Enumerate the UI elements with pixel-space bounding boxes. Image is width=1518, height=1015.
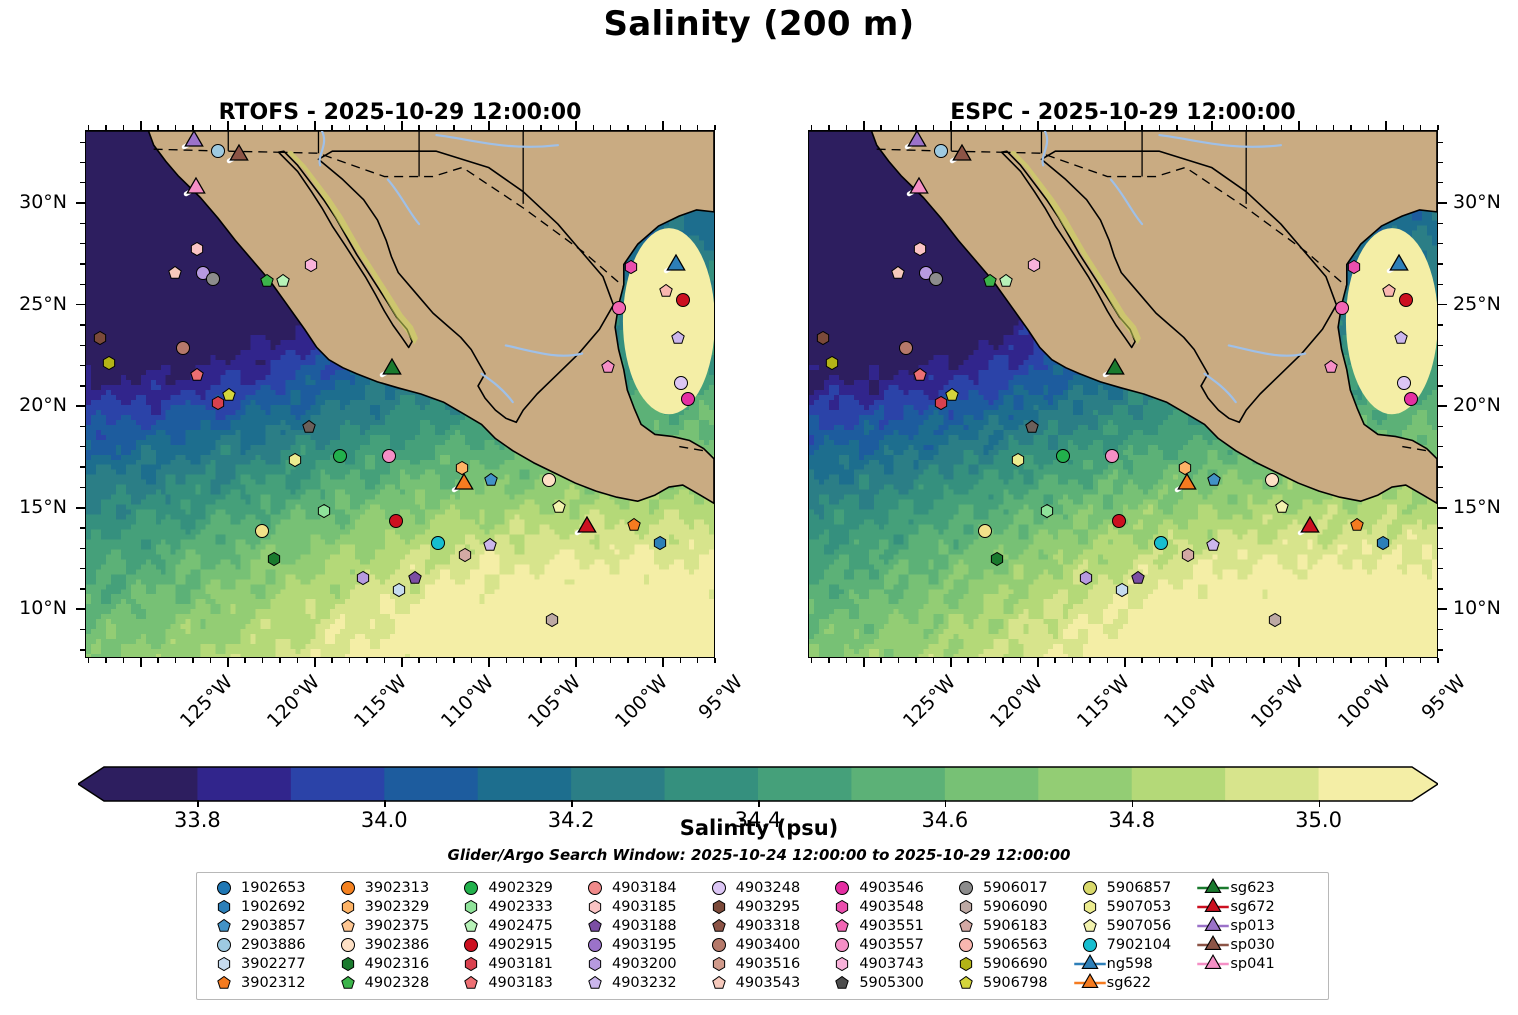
lat-tick-label: 30°N — [19, 191, 67, 213]
platform-marker-sp041 — [899, 168, 939, 208]
platform-marker-4903546 — [1394, 382, 1428, 416]
lon-minor-tick — [349, 125, 350, 130]
platform-marker-sp030 — [942, 135, 982, 175]
platform-marker-4903543 — [881, 256, 915, 290]
lon-minor-tick — [506, 125, 507, 130]
triangle-marker-icon — [1196, 954, 1230, 973]
colorbar-tick — [1319, 800, 1321, 807]
platform-marker-4902329 — [1046, 439, 1080, 473]
lon-minor-tick — [331, 658, 332, 663]
legend-item-sg622[interactable]: sg622 — [1073, 973, 1197, 992]
lon-tick-label: 120°W — [263, 671, 324, 732]
lon-minor-tick — [1403, 658, 1404, 663]
lon-minor-tick — [297, 658, 298, 663]
lon-minor-tick — [436, 125, 437, 130]
lon-minor-tick — [1281, 658, 1282, 663]
lon-minor-tick — [846, 658, 847, 663]
lon-minor-tick — [523, 125, 524, 130]
pentagon-marker-icon — [825, 973, 859, 992]
lon-minor-tick — [175, 125, 176, 130]
lon-tick — [662, 121, 664, 130]
lon-minor-tick — [471, 658, 472, 663]
lon-minor-tick — [349, 658, 350, 663]
lon-tick — [1385, 658, 1387, 667]
lat-minor-tick — [80, 365, 85, 366]
legend-item-label: 1902692 — [241, 899, 306, 915]
legend-grid: 1902653190269229038572903886390227739023… — [207, 878, 1320, 992]
legend-item-label: 4903181 — [488, 956, 553, 972]
lon-tick — [863, 658, 865, 667]
legend-item-label: 4903200 — [612, 956, 677, 972]
legend-item-label: 4902333 — [488, 899, 553, 915]
lon-minor-tick — [1141, 125, 1142, 130]
lat-tick — [1438, 405, 1447, 407]
lon-minor-tick — [1437, 125, 1438, 130]
lon-tick — [1124, 658, 1126, 667]
lat-minor-tick — [1438, 629, 1443, 630]
lat-minor-tick — [80, 162, 85, 163]
platform-marker-4902915 — [379, 504, 413, 538]
lon-minor-tick — [680, 658, 681, 663]
lon-tick-label: 95°W — [694, 671, 747, 724]
lon-minor-tick — [1089, 125, 1090, 130]
legend-item-label: 4903551 — [859, 918, 924, 934]
legend-item-4903543[interactable]: 4903543 — [702, 973, 826, 992]
lon-minor-tick — [697, 125, 698, 130]
platform-marker-4902915 — [666, 283, 700, 317]
platform-marker-sp041 — [176, 168, 216, 208]
lon-minor-tick — [1107, 658, 1108, 663]
lat-minor-tick — [1438, 243, 1443, 244]
colorbar: 33.834.034.234.434.634.835.0 — [78, 766, 1438, 800]
lon-minor-tick — [471, 125, 472, 130]
legend-item-label: 4903400 — [736, 937, 801, 953]
lon-minor-tick — [123, 125, 124, 130]
lon-minor-tick — [1316, 658, 1317, 663]
lon-tick-label: 110°W — [437, 671, 498, 732]
lon-tick — [1037, 658, 1039, 667]
lon-minor-tick — [157, 125, 158, 130]
lon-tick — [140, 121, 142, 130]
platform-marker-3902277 — [1105, 573, 1139, 607]
legend-item-label: 4903232 — [612, 975, 677, 991]
lat-tick-label: 15°N — [1453, 496, 1501, 518]
lon-minor-tick — [453, 658, 454, 663]
lat-tick-label: 20°N — [1453, 394, 1501, 416]
platform-marker-4902316 — [257, 543, 291, 577]
lat-minor-tick — [1438, 588, 1443, 589]
lon-minor-tick — [898, 658, 899, 663]
legend-item-label: 4903195 — [612, 937, 677, 953]
lon-tick — [662, 658, 664, 667]
platform-marker-4903232 — [1384, 321, 1418, 355]
lon-minor-tick — [244, 125, 245, 130]
platform-marker-4903551 — [602, 291, 636, 325]
legend-item-label: 1902653 — [241, 880, 306, 896]
platform-marker-5906798 — [935, 378, 969, 412]
lat-minor-tick — [80, 568, 85, 569]
lon-minor-tick — [985, 125, 986, 130]
legend-item-label: ng598 — [1107, 956, 1153, 972]
lon-minor-tick — [1194, 125, 1195, 130]
lon-minor-tick — [1054, 658, 1055, 663]
lat-minor-tick — [1438, 182, 1443, 183]
platform-marker-5906090 — [1259, 604, 1293, 638]
lat-minor-tick — [1438, 527, 1443, 528]
lat-tick — [1438, 507, 1447, 509]
lon-minor-tick — [1089, 658, 1090, 663]
lat-minor-tick — [1438, 568, 1443, 569]
platform-marker-4903232 — [661, 321, 695, 355]
lon-tick-label: 105°W — [1247, 671, 1308, 732]
lon-tick-label: 100°W — [1334, 671, 1395, 732]
lon-minor-tick — [967, 658, 968, 663]
platform-marker-sg672 — [1290, 507, 1330, 547]
lat-tick-label: 15°N — [19, 496, 67, 518]
lat-minor-tick — [80, 385, 85, 386]
lon-minor-tick — [105, 658, 106, 663]
lat-minor-tick — [1438, 284, 1443, 285]
platform-marker-4903548 — [614, 250, 648, 284]
lat-minor-tick — [1438, 365, 1443, 366]
legend-item-label: 2903886 — [241, 937, 306, 953]
lat-minor-tick — [1438, 426, 1443, 427]
lon-minor-tick — [192, 125, 193, 130]
lon-minor-tick — [540, 658, 541, 663]
lat-minor-tick — [80, 588, 85, 589]
lon-minor-tick — [540, 125, 541, 130]
legend-item-4903183[interactable]: 4903183 — [454, 973, 578, 992]
lon-minor-tick — [192, 658, 193, 663]
lon-tick — [227, 658, 229, 667]
platform-marker-4903200 — [1069, 561, 1103, 595]
lon-minor-tick — [1176, 658, 1177, 663]
lat-minor-tick — [1438, 263, 1443, 264]
legend-item-label: 4903743 — [859, 956, 924, 972]
lat-minor-tick — [80, 487, 85, 488]
lon-minor-tick — [1333, 658, 1334, 663]
lon-minor-tick — [1072, 125, 1073, 130]
platform-marker-4903551 — [1325, 291, 1359, 325]
legend-item-label: 4902316 — [365, 956, 430, 972]
legend-item-label: 4903248 — [736, 880, 801, 896]
lat-tick — [1438, 202, 1447, 204]
lon-minor-tick — [1141, 658, 1142, 663]
lon-minor-tick — [1316, 125, 1317, 130]
lon-minor-tick — [558, 658, 559, 663]
platform-marker-4903743 — [294, 248, 328, 282]
lat-minor-tick — [80, 629, 85, 630]
lon-tick — [575, 658, 577, 667]
map-panel-rtofs[interactable] — [85, 130, 715, 658]
legend-item-label: sp013 — [1230, 918, 1274, 934]
legend-item-5905300[interactable]: 5905300 — [825, 973, 949, 992]
lon-minor-tick — [1333, 125, 1334, 130]
lon-minor-tick — [418, 125, 419, 130]
lon-tick-label: 120°W — [986, 671, 1047, 732]
legend-item-label: 4902915 — [488, 937, 553, 953]
lat-tick — [76, 405, 85, 407]
colorbar-label: Salinity (psu) — [0, 816, 1518, 840]
legend-item-label: 4902328 — [365, 975, 430, 991]
legend-item-label: 7902104 — [1107, 937, 1172, 953]
colorbar-tick — [945, 800, 947, 807]
search-window-subtitle: Glider/Argo Search Window: 2025-10-24 12… — [0, 846, 1518, 864]
platform-marker-5906798 — [212, 378, 246, 412]
lat-tick-label: 10°N — [19, 597, 67, 619]
lat-tick-label: 10°N — [1453, 597, 1501, 619]
lon-minor-tick — [262, 658, 263, 663]
lat-minor-tick — [1438, 142, 1443, 143]
legend-item-label: 4903557 — [859, 937, 924, 953]
lon-minor-tick — [1054, 125, 1055, 130]
lat-minor-tick — [1438, 385, 1443, 386]
colorbar-tick — [758, 800, 760, 807]
platform-marker-5907053 — [1001, 443, 1035, 477]
lon-minor-tick — [1403, 125, 1404, 130]
lon-minor-tick — [645, 658, 646, 663]
legend-item-label: 4903183 — [488, 975, 553, 991]
lon-minor-tick — [1176, 125, 1177, 130]
lon-tick — [314, 121, 316, 130]
platform-marker-4903546 — [591, 350, 625, 384]
legend-item-label: 4903516 — [736, 956, 801, 972]
figure-root: Salinity (200 m) RTOFS - 2025-10-29 12:0… — [0, 0, 1518, 1015]
platform-marker-5906690 — [815, 346, 849, 380]
lat-minor-tick — [80, 466, 85, 467]
lon-minor-tick — [1020, 658, 1021, 663]
lon-minor-tick — [1263, 125, 1264, 130]
lat-minor-tick — [80, 548, 85, 549]
legend-item-4902328[interactable]: 4902328 — [331, 973, 455, 992]
legend-item-label: 5906690 — [983, 956, 1048, 972]
lon-minor-tick — [967, 125, 968, 130]
lon-minor-tick — [1350, 125, 1351, 130]
lat-minor-tick — [80, 345, 85, 346]
lon-minor-tick — [506, 658, 507, 663]
lon-minor-tick — [175, 658, 176, 663]
legend-item-label: 4903546 — [859, 880, 924, 896]
lon-minor-tick — [384, 125, 385, 130]
lon-minor-tick — [1246, 658, 1247, 663]
platform-marker-4903232 — [473, 528, 507, 562]
lon-minor-tick — [123, 658, 124, 663]
lon-minor-tick — [627, 658, 628, 663]
legend-item-label: 4903184 — [612, 880, 677, 896]
lon-minor-tick — [898, 125, 899, 130]
legend-item-label: 4903295 — [736, 899, 801, 915]
lat-minor-tick — [1438, 487, 1443, 488]
colorbar-tick — [1132, 800, 1134, 807]
platform-marker-4903743 — [1017, 248, 1051, 282]
lat-tick — [76, 304, 85, 306]
platform-marker-4903248 — [1015, 411, 1049, 445]
platform-marker-5907053 — [278, 443, 312, 477]
lon-minor-tick — [1350, 658, 1351, 663]
lat-minor-tick — [1438, 466, 1443, 467]
lon-minor-tick — [1072, 658, 1073, 663]
platform-marker-5906690 — [92, 346, 126, 380]
lon-minor-tick — [1420, 658, 1421, 663]
lon-minor-tick — [523, 658, 524, 663]
lon-minor-tick — [1229, 125, 1230, 130]
platform-marker-sg623 — [372, 349, 412, 389]
triangle-marker-icon — [1073, 973, 1107, 992]
colorbar-tick — [571, 800, 573, 807]
pentagon-marker-icon — [207, 973, 241, 992]
platform-marker-4903557 — [1095, 439, 1129, 473]
lat-minor-tick — [80, 243, 85, 244]
lon-minor-tick — [1002, 658, 1003, 663]
lon-tick — [227, 121, 229, 130]
lon-minor-tick — [593, 658, 594, 663]
platform-marker-5906017 — [919, 262, 953, 296]
platform-marker-4902333 — [1031, 494, 1065, 528]
legend-item-label: 4903188 — [612, 918, 677, 934]
platform-marker-4902316 — [980, 543, 1014, 577]
pentagon-marker-icon — [454, 973, 488, 992]
lon-tick — [1385, 121, 1387, 130]
lat-minor-tick — [80, 324, 85, 325]
legend-item-label: 5906017 — [983, 880, 1048, 896]
lon-tick-label: 100°W — [611, 671, 672, 732]
legend-item-label: 5905300 — [859, 975, 924, 991]
platform-marker-4902333 — [308, 494, 342, 528]
lon-minor-tick — [915, 658, 916, 663]
lon-minor-tick — [1368, 658, 1369, 663]
lon-tick — [140, 658, 142, 667]
lon-tick — [401, 658, 403, 667]
lon-minor-tick — [1159, 125, 1160, 130]
lon-minor-tick — [610, 125, 611, 130]
lon-minor-tick — [811, 125, 812, 130]
platform-marker-4902329 — [323, 439, 357, 473]
platform-marker-5906017 — [196, 262, 230, 296]
lon-minor-tick — [1246, 125, 1247, 130]
lon-minor-tick — [279, 125, 280, 130]
platform-marker-4903232 — [1196, 528, 1230, 562]
lon-minor-tick — [105, 125, 106, 130]
lon-tick — [488, 658, 490, 667]
platform-legend: 1902653190269229038572903886390227739023… — [196, 872, 1329, 1000]
legend-item-label: sg672 — [1230, 899, 1274, 915]
legend-item-label: 5907056 — [1107, 918, 1172, 934]
lat-tick-label: 30°N — [1453, 191, 1501, 213]
lon-minor-tick — [593, 125, 594, 130]
lon-tick-label: 110°W — [1160, 671, 1221, 732]
lon-minor-tick — [880, 658, 881, 663]
lon-minor-tick — [418, 658, 419, 663]
lon-minor-tick — [915, 125, 916, 130]
lon-minor-tick — [279, 658, 280, 663]
platform-marker-4903548 — [1337, 250, 1371, 284]
legend-item-label: 5906090 — [983, 899, 1048, 915]
lat-tick — [76, 202, 85, 204]
lon-minor-tick — [366, 125, 367, 130]
lon-minor-tick — [157, 658, 158, 663]
legend-item-3902312[interactable]: 3902312 — [207, 973, 331, 992]
legend-item-4903232[interactable]: 4903232 — [578, 973, 702, 992]
lon-tick — [1037, 121, 1039, 130]
platform-marker-4903248 — [292, 411, 326, 445]
platform-marker-4902915 — [1102, 504, 1136, 538]
lon-tick — [1298, 121, 1300, 130]
legend-item-label: 4903548 — [859, 899, 924, 915]
legend-item-5906798[interactable]: 5906798 — [949, 973, 1073, 992]
legend-item-label: 4903185 — [612, 899, 677, 915]
legend-item-label: 5906857 — [1107, 880, 1172, 896]
lon-minor-tick — [1020, 125, 1021, 130]
legend-item-label: 3902375 — [365, 918, 430, 934]
platform-marker-4903543 — [158, 256, 192, 290]
lon-minor-tick — [1107, 125, 1108, 130]
lat-minor-tick — [80, 446, 85, 447]
lon-minor-tick — [384, 658, 385, 663]
lon-minor-tick — [828, 658, 829, 663]
colorbar-tick — [384, 800, 386, 807]
lon-minor-tick — [366, 658, 367, 663]
lat-minor-tick — [1438, 345, 1443, 346]
platform-marker-4903546 — [1314, 350, 1348, 384]
legend-item-sp041[interactable]: sp041 — [1196, 954, 1320, 973]
legend-item-label: 3902277 — [241, 956, 306, 972]
legend-item-label: sg623 — [1230, 880, 1274, 896]
platform-marker-4902915 — [1389, 283, 1423, 317]
lon-tick — [575, 121, 577, 130]
legend-item-label: 4903318 — [736, 918, 801, 934]
platform-marker-1902692 — [1366, 526, 1400, 560]
platform-marker-2903857 — [475, 463, 509, 497]
lat-tick-label: 25°N — [19, 293, 67, 315]
legend-item-label: sg622 — [1107, 975, 1151, 991]
platform-marker-4903557 — [372, 439, 406, 473]
lon-tick-label: 105°W — [524, 671, 585, 732]
lon-tick — [314, 658, 316, 667]
platform-marker-sp030 — [219, 135, 259, 175]
lon-minor-tick — [1263, 658, 1264, 663]
legend-item-label: 5906563 — [983, 937, 1048, 953]
lat-minor-tick — [1438, 548, 1443, 549]
pentagon-marker-icon — [331, 973, 365, 992]
lat-minor-tick — [80, 649, 85, 650]
lon-minor-tick — [1229, 658, 1230, 663]
map-panel-espc[interactable] — [808, 130, 1438, 658]
lon-minor-tick — [645, 125, 646, 130]
legend-item-label: 5906183 — [983, 918, 1048, 934]
lon-tick — [1211, 658, 1213, 667]
lon-minor-tick — [697, 658, 698, 663]
lon-minor-tick — [933, 658, 934, 663]
lat-minor-tick — [80, 263, 85, 264]
platform-marker-2903857 — [1198, 463, 1232, 497]
lon-tick-label: 115°W — [350, 671, 411, 732]
lon-minor-tick — [453, 125, 454, 130]
lon-minor-tick — [985, 658, 986, 663]
lon-minor-tick — [846, 125, 847, 130]
legend-item-label: 4902329 — [488, 880, 553, 896]
platform-marker-3902277 — [382, 573, 416, 607]
lat-tick — [1438, 608, 1447, 610]
lon-tick — [950, 121, 952, 130]
legend-item-label: 5907053 — [1107, 899, 1172, 915]
figure-title: Salinity (200 m) — [0, 4, 1518, 44]
lon-minor-tick — [610, 658, 611, 663]
platform-marker-5906090 — [536, 604, 570, 638]
legend-item-label: 5906798 — [983, 975, 1048, 991]
lat-tick — [76, 608, 85, 610]
lat-minor-tick — [1438, 649, 1443, 650]
lat-minor-tick — [1438, 324, 1443, 325]
